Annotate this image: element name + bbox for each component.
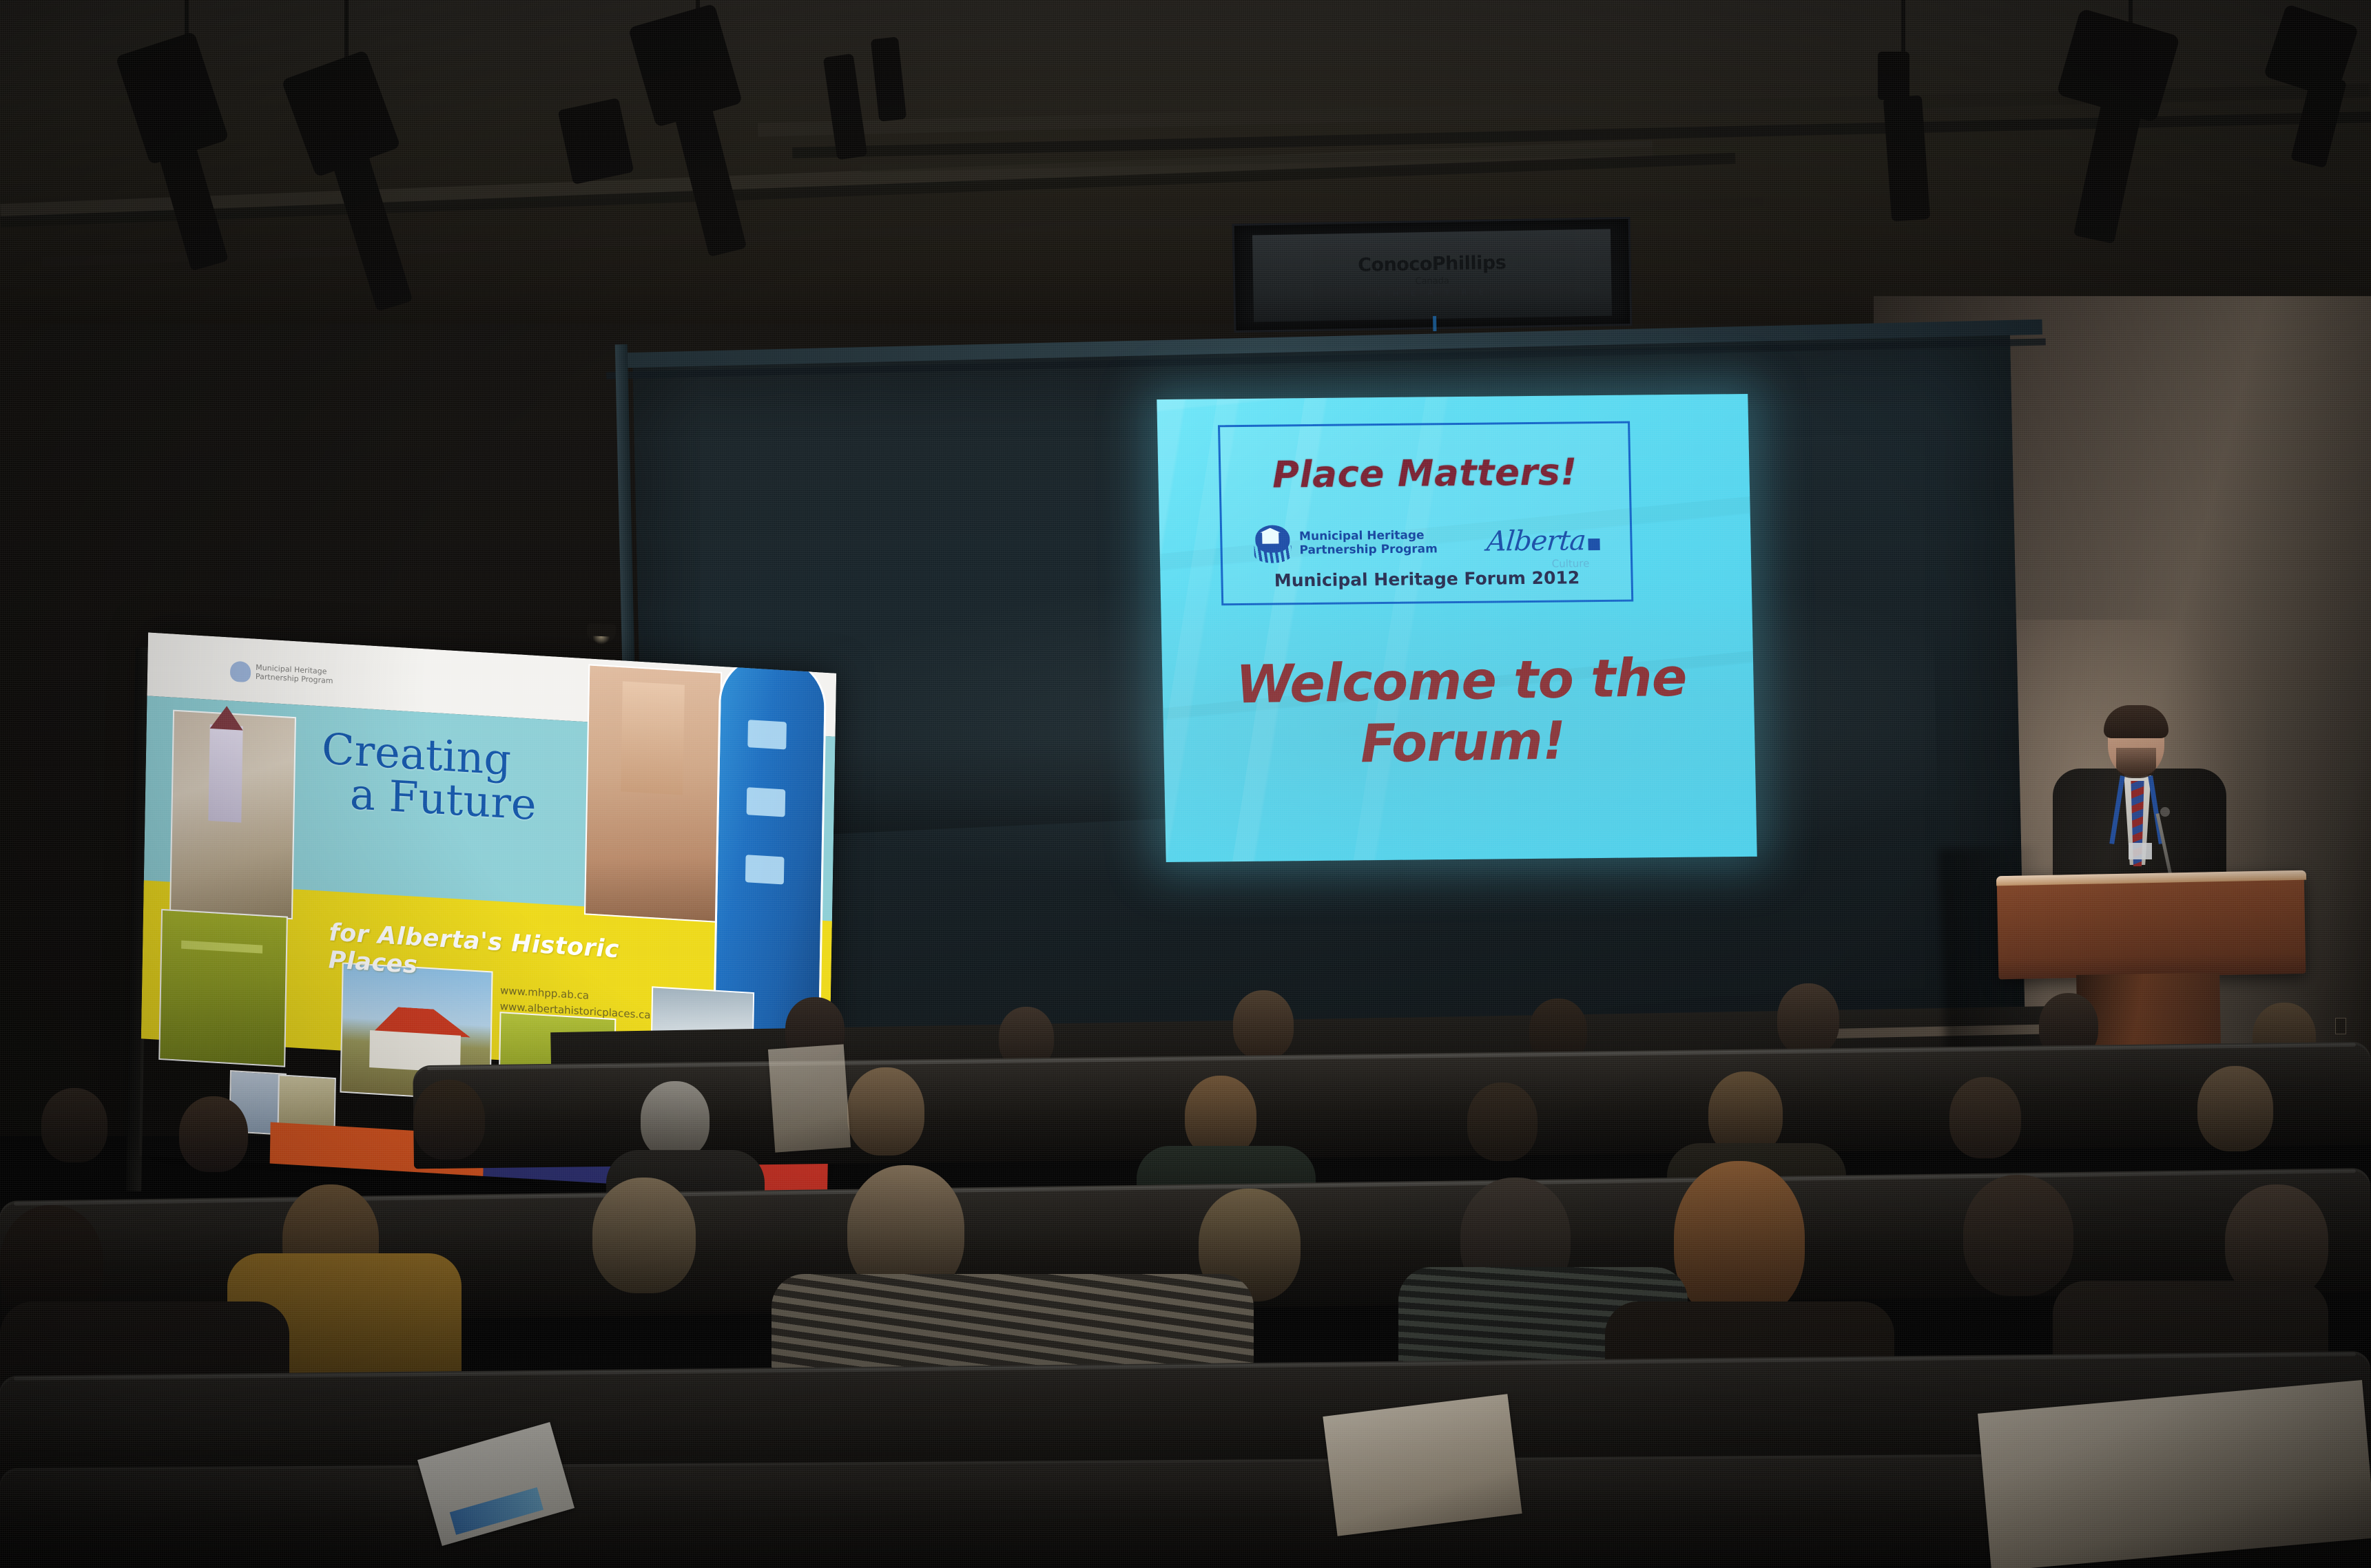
audience-head [1949, 1077, 2021, 1158]
audience-head [1467, 1083, 1537, 1161]
alberta-wordmark: Alberta [1486, 525, 1587, 557]
stage-light-icon [871, 36, 907, 122]
venue-sign-company: ConocoPhillips [1358, 252, 1507, 276]
heritage-building-icon [230, 660, 251, 682]
audience-head-long-hair [1674, 1161, 1805, 1319]
handout-paper [768, 1044, 851, 1152]
venue-sign-panel: ConocoPhillips Canada T H E A T R E [1252, 229, 1612, 322]
stage-light-icon [1878, 52, 1909, 100]
audience-head [1185, 1076, 1256, 1157]
audience-head [413, 1080, 485, 1160]
sign-accent-light [1433, 316, 1436, 331]
alberta-square-icon [1588, 539, 1600, 550]
handout-paper [1323, 1394, 1522, 1536]
podium [1997, 870, 2306, 980]
stage-light-icon [670, 87, 747, 257]
stage-light-icon [558, 98, 634, 185]
projected-slide: Place Matters! Municipal Heritage Partne… [1157, 394, 1757, 862]
audience-head [2197, 1066, 2273, 1151]
stage-light-icon [823, 54, 867, 160]
stage-light-icon [1883, 95, 1930, 221]
venue-sign: ConocoPhillips Canada T H E A T R E [1232, 217, 1633, 333]
microphone-capsule-icon [2160, 807, 2170, 817]
handout-paper [1978, 1380, 2371, 1568]
audience-head [1777, 983, 1839, 1055]
audience-area [0, 978, 2371, 1568]
slide-logo-row: Municipal Heritage Partnership Program A… [1222, 509, 1631, 576]
banner-lamp-icon [587, 623, 617, 642]
auditorium-photo-scene: Place Matters! Municipal Heritage Partne… [0, 0, 2371, 1568]
speaker-hair [2104, 705, 2168, 738]
audience-head [592, 1178, 696, 1293]
alberta-culture-logo: Alberta Culture [1487, 525, 1600, 558]
banner-photo-church [169, 710, 296, 920]
slide-title: Place Matters! [1221, 451, 1629, 497]
slide-subtitle: Municipal Heritage Forum 2012 [1223, 567, 1631, 592]
mhpp-logo: Municipal Heritage Partnership Program [1252, 522, 1438, 564]
slide-header-card: Place Matters! Municipal Heritage Partne… [1218, 421, 1633, 606]
mhpp-logo-text: Municipal Heritage Partnership Program [1299, 528, 1438, 557]
audience-head [41, 1088, 107, 1162]
banner-mhpp-text: Municipal Heritage Partnership Program [256, 664, 333, 686]
speaker-name-badge [2129, 843, 2152, 859]
venue-sign-region: Canada [1415, 276, 1449, 287]
heritage-building-icon [1252, 523, 1293, 564]
audience-head-grey [641, 1081, 710, 1158]
stage-light-icon [327, 136, 413, 312]
audience-head [847, 1067, 924, 1156]
audience-head [1233, 990, 1294, 1059]
audience-head [179, 1096, 248, 1172]
venue-sign-room: T H E A T R E [1376, 288, 1489, 299]
audience-head [1963, 1175, 2073, 1296]
speaker-beard [2116, 748, 2156, 778]
banner-title: Creating a Future [321, 726, 646, 833]
slide-headline: Welcome to the Forum! [1182, 645, 1742, 777]
banner-mhpp-logo: Municipal Heritage Partnership Program [230, 660, 333, 687]
